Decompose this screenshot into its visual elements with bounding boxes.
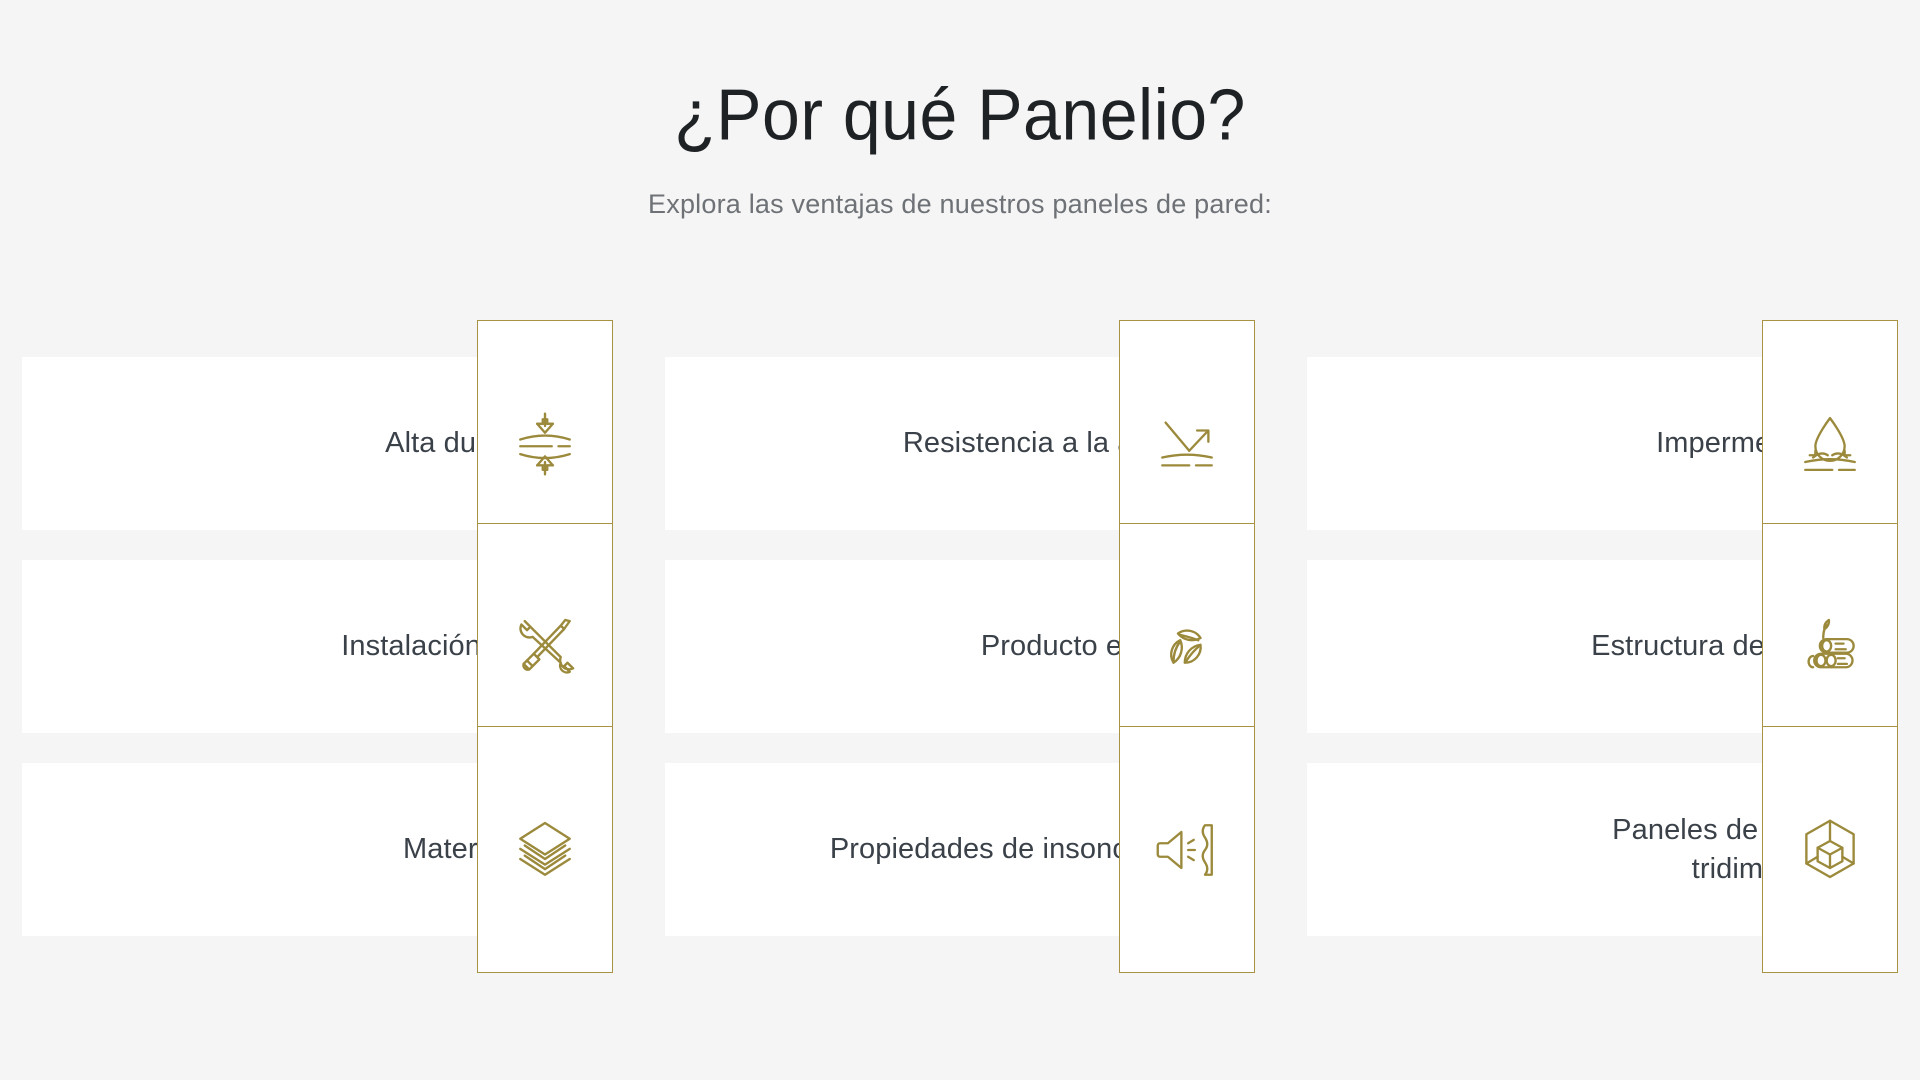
section-header: ¿Por qué Panelio? Explora las ventajas d…: [0, 0, 1920, 220]
feature-card-instalacion-sencilla[interactable]: Instalación sencilla: [22, 560, 613, 733]
feature-card-resistencia-abrasion[interactable]: Resistencia a la abrasión: [665, 357, 1256, 530]
page-title: ¿Por qué Panelio?: [0, 78, 1920, 154]
water-drop-repel-icon: [1794, 408, 1866, 480]
feature-card-producto-ecologico[interactable]: Producto ecológico: [665, 560, 1256, 733]
feature-card-alta-durabilidad[interactable]: Alta durabilidad: [22, 357, 613, 530]
feature-icon-box: [1762, 726, 1898, 973]
durability-compression-icon: [509, 408, 581, 480]
page-subtitle: Explora las ventajas de nuestros paneles…: [0, 189, 1920, 220]
feature-card-material-ligero[interactable]: Material ligero: [22, 763, 613, 936]
why-panelio-section: ¿Por qué Panelio? Explora las ventajas d…: [0, 0, 1920, 1080]
feature-icon-box: [477, 726, 613, 973]
recycle-leaves-icon: [1151, 611, 1223, 683]
feature-card-insonorizacion[interactable]: Propiedades de insonorización: [665, 763, 1256, 936]
features-grid: Alta durabilidad Resistencia a la ab: [22, 357, 1898, 936]
feature-card-impermeabilidad[interactable]: Impermeabilidad: [1307, 357, 1898, 530]
feature-card-estructura-madera[interactable]: Estructura de madera: [1307, 560, 1898, 733]
feature-icon-box: [1119, 726, 1255, 973]
wood-logs-sprout-icon: [1794, 611, 1866, 683]
stacked-layers-icon: [509, 814, 581, 886]
wrench-screwdriver-tools-icon: [509, 611, 581, 683]
hexagon-3d-cube-icon: [1794, 814, 1866, 886]
feature-card-tridimensional[interactable]: Paneles de carácter tridimensional: [1307, 763, 1898, 936]
abrasion-arrow-surface-icon: [1151, 408, 1223, 480]
soundproof-speaker-wall-icon: [1151, 814, 1223, 886]
